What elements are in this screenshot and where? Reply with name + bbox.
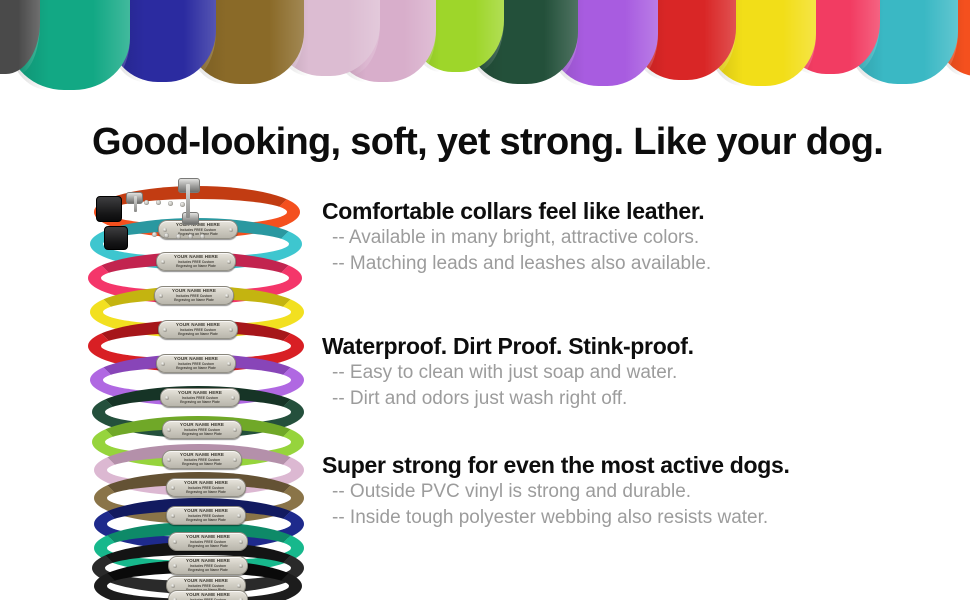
promo-banner-page: Good-looking, soft, yet strong. Like you… [0, 0, 970, 600]
name-plate-line-3: Engraving on Name Plate [169, 544, 247, 548]
side-release-buckle [104, 226, 128, 250]
name-plate: YOUR NAME HEREIncludes FREE CustomEngrav… [156, 354, 236, 373]
page-title: Good-looking, soft, yet strong. Like you… [92, 121, 892, 164]
feature-heading: Super strong for even the most active do… [322, 451, 922, 479]
name-plate-line-3: Engraving on Name Plate [155, 298, 233, 302]
feature-bullet: -- Outside PVC vinyl is strong and durab… [322, 479, 922, 505]
name-plate: YOUR NAME HEREIncludes FREE CustomEngrav… [162, 450, 242, 469]
rivet-icon [167, 458, 171, 462]
feature-bullet: -- Available in many bright, attractive … [322, 225, 922, 251]
name-plate-line-3: Engraving on Name Plate [159, 232, 237, 236]
name-plate-line-3: Engraving on Name Plate [169, 568, 247, 572]
name-plate: YOUR NAME HEREIncludes FREE CustomEngrav… [168, 532, 248, 551]
rivet-icon [229, 328, 233, 332]
name-plate: YOUR NAME HEREIncludes FREE CustomEngrav… [156, 252, 236, 271]
rivet-icon [167, 428, 171, 432]
rivet-icon [173, 540, 177, 544]
metal-buckle [182, 212, 199, 225]
rivet-icon [237, 514, 241, 518]
feature-block-waterproof: Waterproof. Dirt Proof. Stink-proof.-- E… [322, 332, 922, 412]
strap-hole [156, 200, 161, 205]
rivet-icon [163, 328, 167, 332]
name-plate-line-3: Engraving on Name Plate [161, 400, 239, 404]
name-plate-line-3: Engraving on Name Plate [163, 432, 241, 436]
feature-block-strength: Super strong for even the most active do… [322, 451, 922, 531]
strap-hole [200, 234, 205, 239]
name-plate: YOUR NAME HEREIncludes FREE CustomEngrav… [166, 506, 246, 525]
rivet-icon [171, 514, 175, 518]
name-plate-line-3: Engraving on Name Plate [163, 462, 241, 466]
strap-hole [164, 233, 169, 238]
buckle-prong [134, 196, 137, 212]
rivet-icon [227, 260, 231, 264]
feature-heading: Waterproof. Dirt Proof. Stink-proof. [322, 332, 922, 360]
strap-hole [144, 200, 149, 205]
rivet-icon [229, 228, 233, 232]
rivet-icon [173, 564, 177, 568]
buckle-prong [186, 184, 190, 218]
feature-bullet: -- Matching leads and leashes also avail… [322, 251, 922, 277]
name-plate-line-3: Engraving on Name Plate [157, 264, 235, 268]
rivet-icon [225, 294, 229, 298]
name-plate: YOUR NAME HEREIncludes FREE CustomEngrav… [154, 286, 234, 305]
name-plate: YOUR NAME HEREIncludes FREE CustomEngrav… [158, 320, 238, 339]
strap-hole [188, 234, 193, 239]
dog-collar-stack: YOUR NAME HEREIncludes FREE CustomEngrav… [86, 176, 318, 576]
name-plate: YOUR NAME HEREIncludes FREE CustomEngrav… [160, 388, 240, 407]
rivet-icon [161, 362, 165, 366]
rivet-icon [163, 228, 167, 232]
feature-bullet: -- Easy to clean with just soap and wate… [322, 360, 922, 386]
name-plate-line-3: Engraving on Name Plate [157, 366, 235, 370]
rivet-icon [227, 362, 231, 366]
feature-bullet: -- Dirt and odors just wash right off. [322, 386, 922, 412]
rivet-icon [233, 458, 237, 462]
rivet-icon [233, 428, 237, 432]
strap-hole [180, 202, 185, 207]
name-plate-line-3: Engraving on Name Plate [159, 332, 237, 336]
rivet-icon [237, 486, 241, 490]
rivet-icon [159, 294, 163, 298]
name-plate: YOUR NAME HEREIncludes FREE CustomEngrav… [162, 420, 242, 439]
side-release-buckle [96, 196, 122, 222]
rivet-icon [165, 396, 169, 400]
strap-hole [152, 232, 157, 237]
name-plate: YOUR NAME HEREIncludes FREE CustomEngrav… [166, 478, 246, 497]
rivet-icon [161, 260, 165, 264]
feature-heading: Comfortable collars feel like leather. [322, 197, 922, 225]
rivet-icon [171, 486, 175, 490]
strap-hole [168, 201, 173, 206]
rivet-icon [237, 584, 241, 588]
name-plate-line-3: Engraving on Name Plate [167, 490, 245, 494]
rivet-icon [239, 564, 243, 568]
name-plate: YOUR NAME HEREIncludes FREE CustomEngrav… [168, 590, 248, 600]
strap-hole [176, 234, 181, 239]
ribbon-color-banner [0, 0, 970, 92]
rivet-icon [239, 540, 243, 544]
feature-block-comfort: Comfortable collars feel like leather.--… [322, 197, 922, 277]
rivet-icon [171, 584, 175, 588]
name-plate-line-3: Engraving on Name Plate [167, 518, 245, 522]
feature-bullet: -- Inside tough polyester webbing also r… [322, 505, 922, 531]
rivet-icon [231, 396, 235, 400]
name-plate: YOUR NAME HEREIncludes FREE CustomEngrav… [168, 556, 248, 575]
